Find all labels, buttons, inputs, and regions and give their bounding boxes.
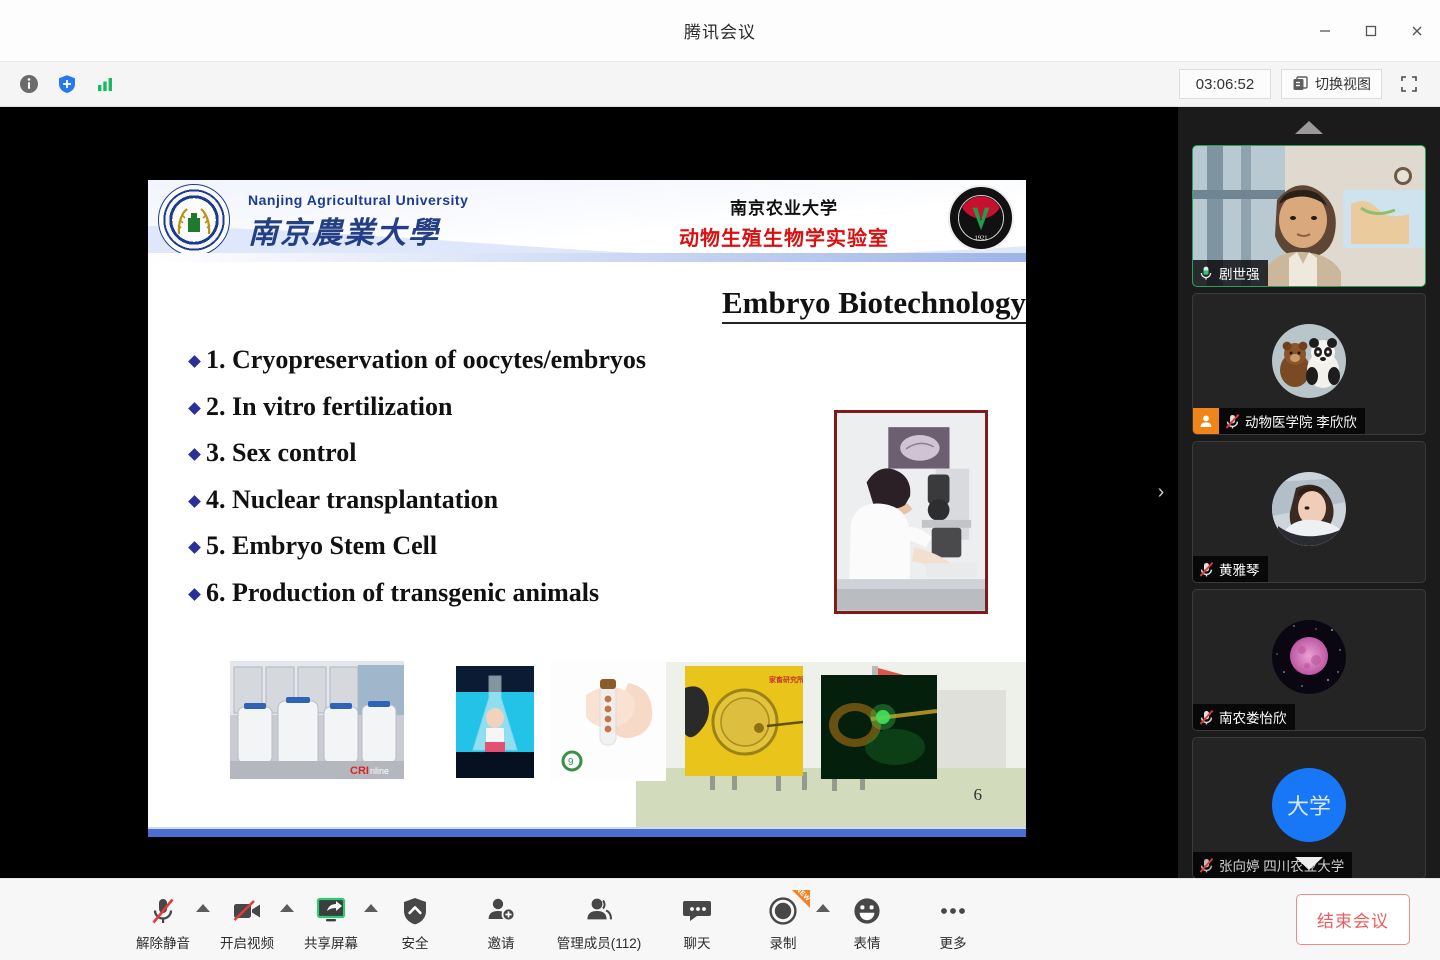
- bullet-text: 6. Production of transgenic animals: [206, 577, 599, 610]
- slide-body: Embryo Biotechnology 1. Cryopreservation…: [148, 262, 1026, 827]
- manage-members-button[interactable]: 管理成员(112): [544, 888, 654, 952]
- info-icon[interactable]: [12, 69, 46, 99]
- list-item: 5. Embryo Stem Cell: [190, 530, 1026, 563]
- control-label: 录制: [770, 932, 797, 952]
- slide-footer-bar: [148, 827, 1026, 837]
- microphone-muted-icon: [1219, 413, 1245, 430]
- security-button[interactable]: 安全: [372, 888, 458, 952]
- mute-toggle-button[interactable]: 解除静音: [120, 888, 206, 952]
- diamond-bullet-icon: [188, 448, 201, 461]
- meeting-timer: 03:06:52: [1179, 69, 1271, 99]
- microphone-muted-icon: [148, 894, 178, 928]
- shield-plus-icon[interactable]: [50, 69, 84, 99]
- diamond-bullet-icon: [188, 588, 201, 601]
- window-controls: [1302, 0, 1440, 62]
- participant-name: 南农娄怡欣: [1219, 707, 1287, 727]
- slide-header-banner: Nanjing Agricultural University 南京農業大學 南…: [148, 180, 1026, 262]
- control-label: 邀请: [488, 932, 515, 952]
- test-tube-in-hand-photo: 9: [550, 661, 666, 781]
- slide-photo-strip: CRI nline: [148, 653, 1026, 813]
- diamond-bullet-icon: [188, 402, 201, 415]
- share-screen-button[interactable]: 共享屏幕: [288, 888, 374, 952]
- cryogenic-storage-tanks-photo: CRI nline: [230, 661, 404, 779]
- diamond-bullet-icon: [188, 355, 201, 368]
- control-label: 更多: [940, 932, 967, 952]
- more-dots-icon: [938, 894, 968, 928]
- control-label: 共享屏幕: [304, 932, 358, 952]
- close-icon[interactable]: [1394, 0, 1440, 62]
- video-toggle-button[interactable]: 开启视频: [204, 888, 290, 952]
- scroll-up-arrow[interactable]: [1295, 121, 1323, 134]
- page-title: 腾讯会议: [684, 18, 756, 43]
- microphone-muted-icon: [1193, 561, 1219, 578]
- security-shield-icon: [401, 894, 429, 928]
- emoji-button[interactable]: 表情: [824, 888, 910, 952]
- participant-name: 动物医学院 李欣欣: [1245, 411, 1357, 431]
- bullet-text: 2. In vitro fertilization: [206, 391, 452, 424]
- control-label: 聊天: [684, 932, 711, 952]
- njau-seal-logo: [158, 184, 230, 256]
- participant-tile[interactable]: 南农娄怡欣: [1192, 589, 1426, 731]
- bullet-text: 5. Embryo Stem Cell: [206, 530, 437, 563]
- participant-video-panel: 剧世强: [1178, 107, 1440, 878]
- list-item: 3. Sex control: [190, 437, 1026, 470]
- network-signal-icon[interactable]: [88, 69, 122, 99]
- invite-button[interactable]: 邀请: [458, 888, 544, 952]
- pink-moon-photo: [1272, 620, 1346, 694]
- list-item: 1. Cryopreservation of oocytes/embryos: [190, 344, 1026, 377]
- invite-user-icon: [486, 894, 516, 928]
- participant-tile[interactable]: 黄雅琴: [1192, 441, 1426, 583]
- presentation-slide: Nanjing Agricultural University 南京農業大學 南…: [148, 180, 1026, 837]
- fluorescent-embryo-photo: [821, 675, 937, 779]
- meeting-control-bar: 解除静音 开启视频: [0, 878, 1440, 960]
- participant-name: 剧世强: [1219, 263, 1260, 283]
- slide-title: Embryo Biotechnology: [722, 286, 1026, 324]
- svg-text:家畜研究所: 家畜研究所: [769, 675, 803, 684]
- icsi-oocyte-injection-photo: 家畜研究所: [685, 666, 803, 776]
- chat-bubble-icon: [682, 894, 712, 928]
- control-label: 解除静音: [136, 932, 190, 952]
- new-badge: NEW: [792, 890, 810, 908]
- slide-university-calligraphy: 南京農業大學: [248, 208, 440, 252]
- share-screen-icon: [314, 894, 348, 928]
- title-bar: 腾讯会议: [0, 0, 1440, 62]
- avatar: 大学: [1272, 768, 1346, 842]
- fullscreen-icon[interactable]: [1392, 69, 1426, 99]
- microphone-muted-icon: [1193, 709, 1219, 726]
- list-item: 6. Production of transgenic animals: [190, 577, 1026, 610]
- chevron-right-icon[interactable]: ›: [1150, 470, 1172, 516]
- switch-view-button[interactable]: 切换视图: [1281, 69, 1382, 99]
- slide-university-chinese: 南京农业大学: [634, 194, 934, 219]
- slide-header-right-text: 南京农业大学 动物生殖生物学实验室: [634, 194, 934, 251]
- record-button[interactable]: NEW 录制: [740, 888, 826, 952]
- woman-portrait-photo: [1272, 472, 1346, 546]
- diamond-bullet-icon: [188, 495, 201, 508]
- participant-tile[interactable]: 动物医学院 李欣欣: [1192, 293, 1426, 435]
- sub-toolbar-right: 03:06:52 切换视图: [1179, 69, 1440, 99]
- control-label: 安全: [402, 932, 429, 952]
- emoji-smiley-icon: [852, 894, 882, 928]
- more-button[interactable]: 更多: [910, 888, 996, 952]
- list-item: 4. Nuclear transplantation: [190, 484, 1026, 517]
- control-label: 管理成员(112): [557, 932, 642, 952]
- svg-text:nline: nline: [370, 766, 389, 776]
- list-item: 2. In vitro fertilization: [190, 391, 1026, 424]
- tencent-meeting-window: 腾讯会议: [0, 0, 1440, 960]
- participant-nameplate: 南农娄怡欣: [1193, 704, 1295, 730]
- participant-nameplate: 剧世强: [1193, 260, 1268, 286]
- minimize-icon[interactable]: [1302, 0, 1348, 62]
- maximize-icon[interactable]: [1348, 0, 1394, 62]
- sub-toolbar-left-icons: [0, 69, 122, 99]
- slide-university-english: Nanjing Agricultural University: [248, 192, 468, 208]
- slide-lab-name: 动物生殖生物学实验室: [634, 222, 934, 251]
- participant-nameplate: 动物医学院 李欣欣: [1193, 408, 1365, 434]
- microphone-active-icon: [1193, 265, 1219, 281]
- participant-nameplate: 张向婷 四川农业大学: [1193, 852, 1352, 878]
- bullet-text: 4. Nuclear transplantation: [206, 484, 498, 517]
- baby-in-flask-photo: [456, 666, 534, 778]
- svg-text:9: 9: [568, 757, 574, 768]
- bullet-text: 1. Cryopreservation of oocytes/embryos: [206, 344, 646, 377]
- scroll-down-arrow[interactable]: [1295, 857, 1323, 870]
- veterinary-seal-logo: 1921: [948, 185, 1014, 251]
- shared-screen-stage: Nanjing Agricultural University 南京農業大學 南…: [0, 107, 1178, 878]
- participant-nameplate: 黄雅琴: [1193, 556, 1268, 582]
- switch-view-label: 切换视图: [1315, 74, 1371, 94]
- end-meeting-button[interactable]: 结束会议: [1296, 894, 1410, 945]
- teddy-bear-panda-photo: [1272, 324, 1346, 398]
- host-badge-icon: [1193, 408, 1219, 434]
- microphone-muted-icon: [1193, 857, 1219, 874]
- meeting-sub-toolbar: 03:06:52 切换视图: [0, 62, 1440, 107]
- participant-tiles: 剧世强: [1178, 145, 1440, 878]
- slide-bullet-list: 1. Cryopreservation of oocytes/embryos 2…: [190, 344, 1026, 609]
- slide-page-number: 6: [974, 785, 983, 805]
- diamond-bullet-icon: [188, 541, 201, 554]
- participant-name: 黄雅琴: [1219, 559, 1260, 579]
- new-badge-label: NEW: [794, 885, 811, 902]
- control-group: 解除静音 开启视频: [120, 888, 996, 952]
- participant-tile[interactable]: 剧世强: [1192, 145, 1426, 287]
- switch-view-icon: [1292, 76, 1309, 93]
- control-label: 开启视频: [220, 932, 274, 952]
- control-label: 表情: [854, 932, 881, 952]
- avatar-initials: 大学: [1287, 789, 1331, 821]
- participant-name: 张向婷 四川农业大学: [1219, 855, 1344, 875]
- svg-text:CRI: CRI: [350, 765, 369, 777]
- camera-off-icon: [231, 894, 263, 928]
- svg-text:1921: 1921: [974, 235, 987, 242]
- bullet-text: 3. Sex control: [206, 437, 356, 470]
- chat-button[interactable]: 聊天: [654, 888, 740, 952]
- manage-members-icon: [584, 894, 614, 928]
